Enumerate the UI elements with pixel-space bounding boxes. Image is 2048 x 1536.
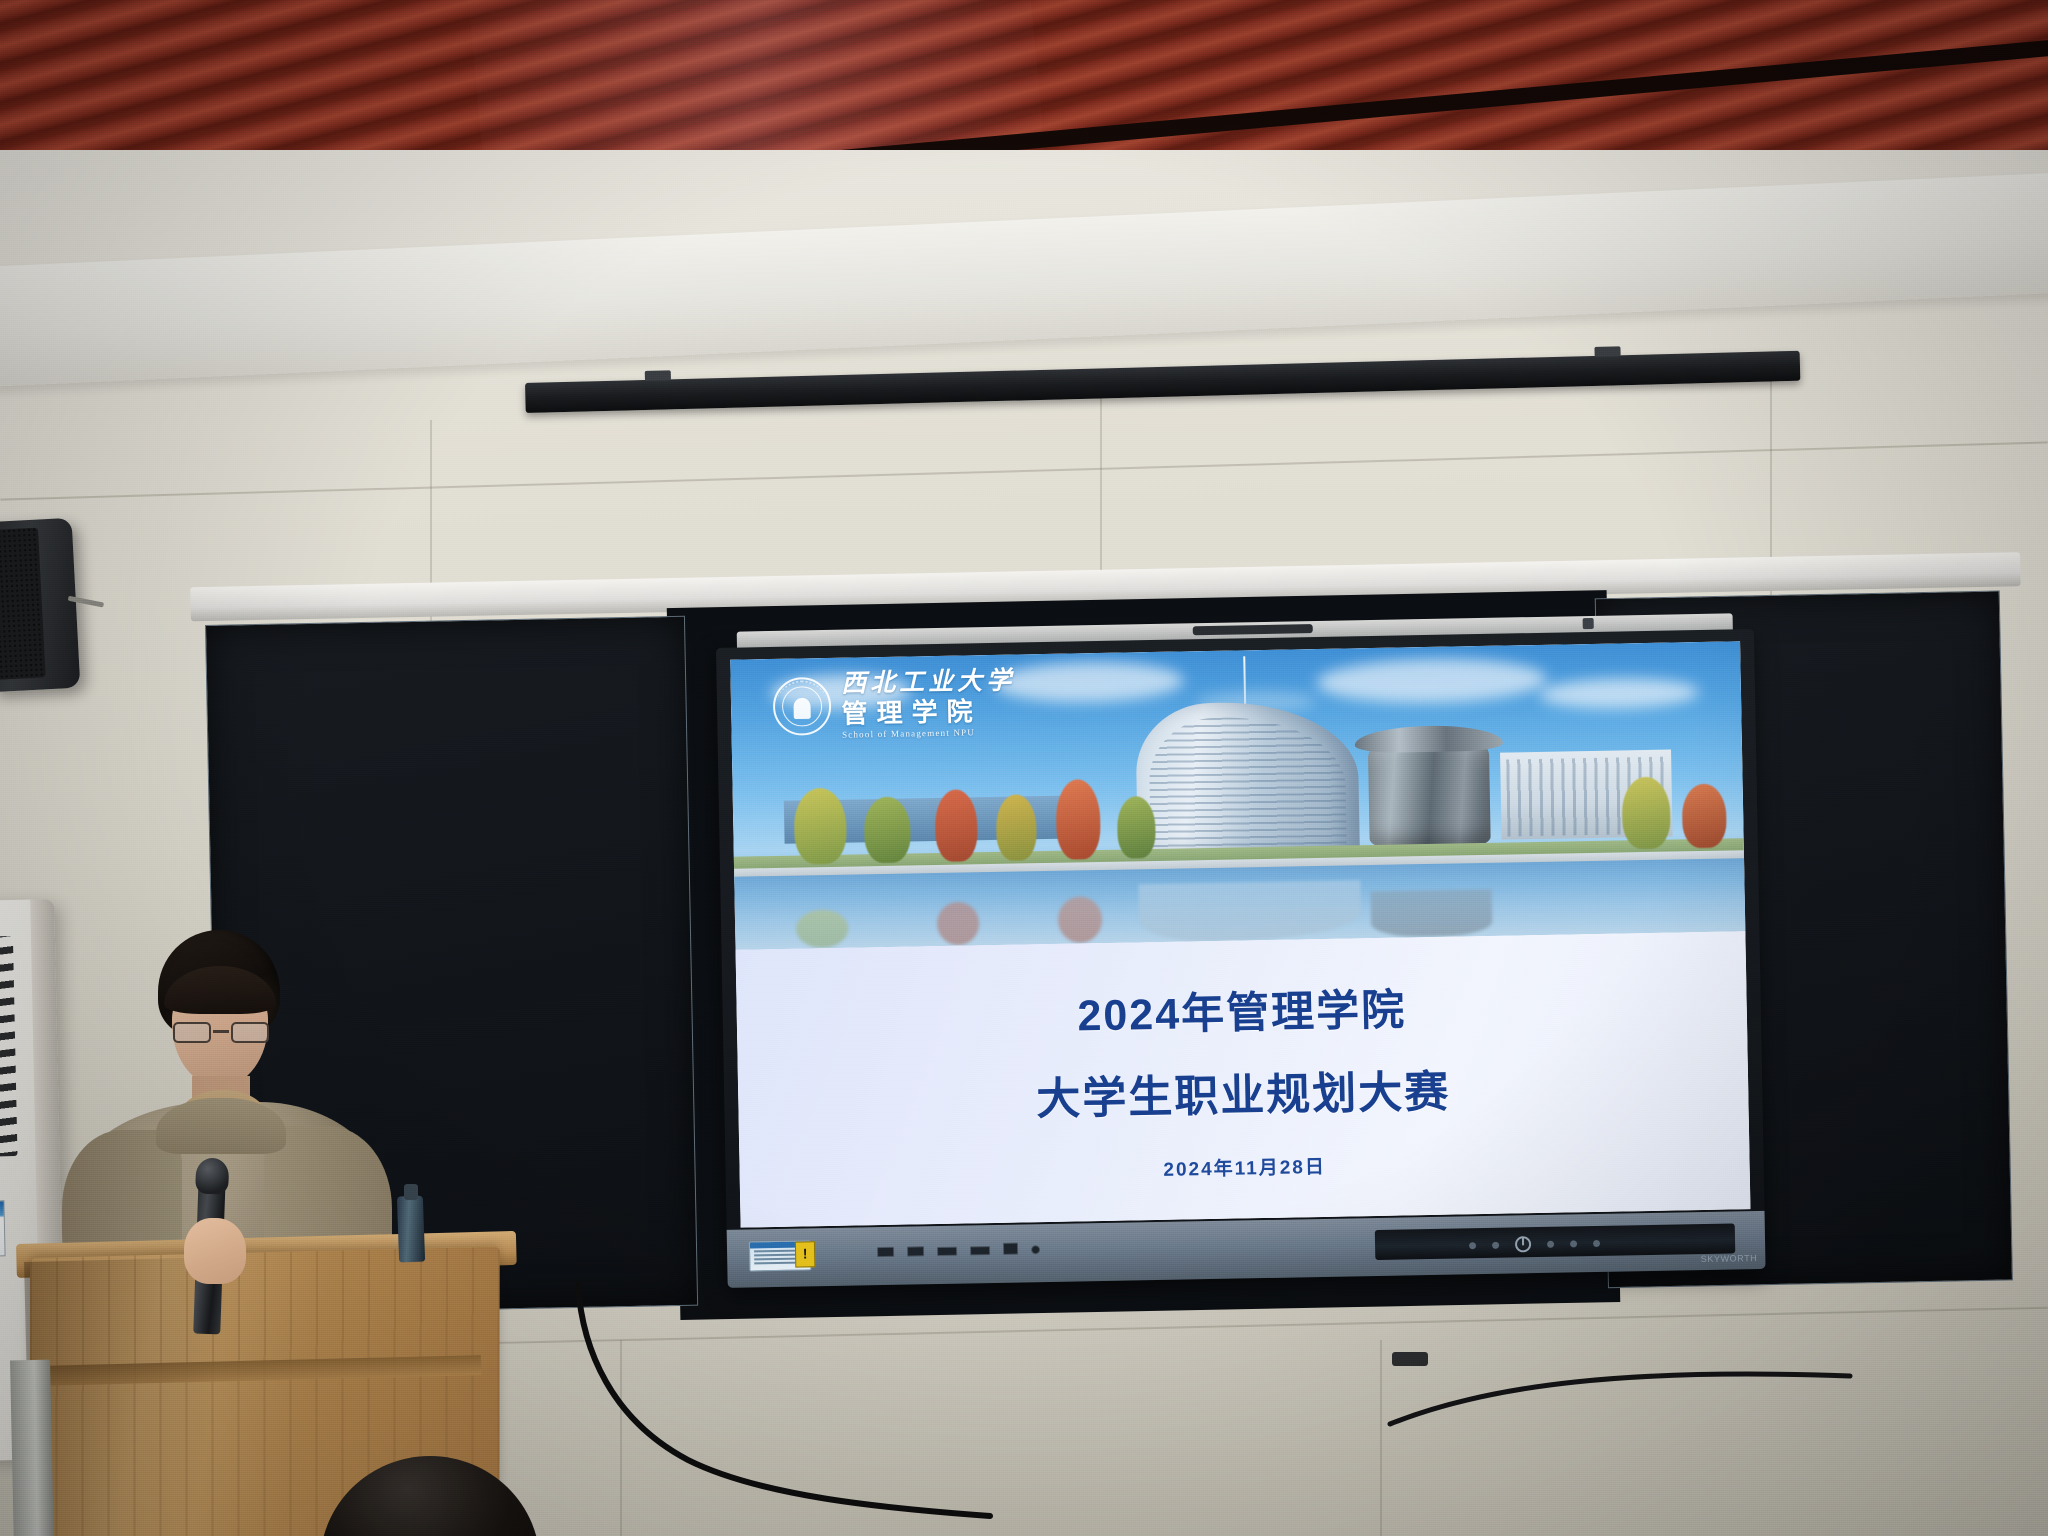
university-seal-icon (773, 677, 832, 736)
slide-title-line2: 大学生职业规划大赛 (1036, 1055, 1451, 1127)
audio-jack[interactable] (1031, 1245, 1040, 1254)
usb-port[interactable] (877, 1247, 894, 1257)
ethernet-port[interactable] (1003, 1243, 1018, 1255)
screen-mount-bracket (645, 370, 671, 381)
conference-room-scene: 西北工业大学 管理学院 School of Management NPU 202… (0, 0, 2048, 1536)
slide-header-photo: 西北工业大学 管理学院 School of Management NPU (730, 641, 1745, 949)
glasses-icon (172, 1022, 270, 1044)
lectern-side-edge (10, 1360, 54, 1536)
presenter-hand (184, 1218, 246, 1284)
display-brand-label: SKYWORTH (1701, 1253, 1758, 1264)
logo-school-name-en: School of Management NPU (842, 728, 1016, 741)
interactive-flat-panel-display[interactable]: 西北工业大学 管理学院 School of Management NPU 202… (716, 629, 1766, 1288)
logo-university-name: 西北工业大学 (841, 669, 1015, 698)
screen-mount-bracket (1594, 346, 1620, 357)
indicator-dot (1547, 1240, 1554, 1247)
campus-main-building (1135, 700, 1360, 855)
water-bottle (397, 1196, 425, 1263)
usb-port[interactable] (907, 1246, 924, 1256)
cable-floor-box (1392, 1352, 1428, 1366)
ac-energy-label (0, 1200, 6, 1257)
hdmi-port[interactable] (970, 1246, 990, 1255)
warning-triangle-icon (795, 1241, 815, 1267)
bottle-cap (404, 1184, 418, 1200)
indicator-dot (1469, 1242, 1476, 1249)
indicator-dot (1570, 1240, 1577, 1247)
speaker-grille-icon (0, 528, 46, 681)
slide-date: 2024年11月28日 (1163, 1152, 1326, 1182)
school-logo-lockup: 西北工业大学 管理学院 School of Management NPU (773, 669, 1016, 741)
ir-sensor-icon (1582, 618, 1593, 629)
seal-ring-text (776, 680, 829, 733)
wall-speaker (0, 518, 80, 692)
bronze-vessel-sculpture (1368, 730, 1491, 848)
indicator-dot (1593, 1239, 1600, 1246)
microphone-head-icon (195, 1157, 229, 1194)
display-screen[interactable]: 西北工业大学 管理学院 School of Management NPU 202… (730, 641, 1750, 1227)
slide-title-line1: 2024年管理学院 (1077, 975, 1407, 1043)
display-power-cable (560, 1280, 1260, 1536)
presentation-slide: 西北工业大学 管理学院 School of Management NPU 202… (730, 641, 1750, 1227)
indicator-dot (1492, 1241, 1499, 1248)
ir-control-bar[interactable] (1375, 1223, 1735, 1260)
logo-school-name: 管理学院 (841, 697, 1015, 727)
hdmi-port[interactable] (937, 1247, 957, 1256)
floor-cable (1380, 1350, 1860, 1470)
ac-vent-louvers (0, 936, 17, 1157)
slide-title-block: 2024年管理学院 大学生职业规划大赛 2024年11月28日 (736, 931, 1751, 1228)
io-port-cluster[interactable] (877, 1242, 1040, 1257)
power-icon[interactable] (1515, 1236, 1531, 1252)
presenter-jacket-collar (156, 1098, 286, 1154)
